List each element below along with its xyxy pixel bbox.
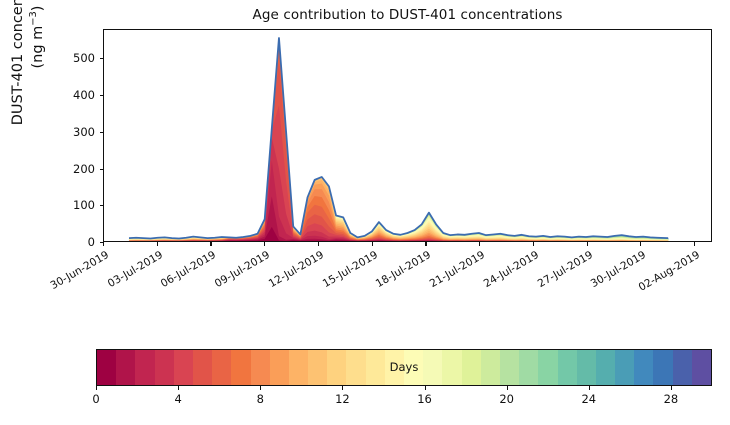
x-tick-mark xyxy=(479,242,480,246)
colorbar-segment xyxy=(442,350,461,385)
colorbar-segment xyxy=(135,350,154,385)
area-band xyxy=(129,38,668,241)
y-axis-label-exponent: −3 xyxy=(28,11,39,26)
colorbar-segment xyxy=(385,350,404,385)
colorbar-segment xyxy=(653,350,672,385)
colorbar-tick-mark xyxy=(178,386,179,390)
y-axis-label: DUST-401 concentration (ng m−3) xyxy=(11,0,45,153)
colorbar-tick-label: 0 xyxy=(76,392,116,406)
y-tick-label: 500 xyxy=(53,51,95,65)
chart-title: Age contribution to DUST-401 concentrati… xyxy=(103,7,712,23)
colorbar-tick-mark xyxy=(342,386,343,390)
y-tick-mark xyxy=(100,95,104,96)
area-band xyxy=(129,38,668,241)
area-band xyxy=(129,42,668,241)
y-tick-mark xyxy=(100,169,104,170)
y-tick-label: 200 xyxy=(53,162,95,176)
y-tick-label: 300 xyxy=(53,125,95,139)
colorbar-segment xyxy=(155,350,174,385)
colorbar-segment xyxy=(289,350,308,385)
colorbar-segment xyxy=(270,350,289,385)
area-band xyxy=(129,38,668,241)
colorbar[interactable] xyxy=(96,349,712,386)
area-band xyxy=(129,38,668,241)
area-band xyxy=(129,38,668,241)
colorbar-segment xyxy=(519,350,538,385)
colorbar-segment xyxy=(596,350,615,385)
x-tick-mark xyxy=(157,242,158,246)
area-band xyxy=(129,38,668,241)
area-band xyxy=(129,38,668,241)
colorbar-segment xyxy=(193,350,212,385)
area-band xyxy=(129,38,668,241)
area-band xyxy=(129,38,668,241)
colorbar-segment xyxy=(577,350,596,385)
area-band xyxy=(129,38,668,241)
x-tick-mark xyxy=(372,242,373,246)
area-band xyxy=(129,38,668,241)
colorbar-segment xyxy=(538,350,557,385)
colorbar-segment xyxy=(174,350,193,385)
colorbar-segment xyxy=(116,350,135,385)
y-axis-label-units-prefix: (ng m xyxy=(29,26,45,69)
area-band xyxy=(129,38,668,241)
area-band xyxy=(129,38,668,241)
x-tick-mark xyxy=(318,242,319,246)
x-tick-mark xyxy=(103,242,104,246)
colorbar-segment xyxy=(423,350,442,385)
colorbar-segment xyxy=(346,350,365,385)
area-band xyxy=(129,38,668,241)
colorbar-segment xyxy=(251,350,270,385)
colorbar-tick-mark xyxy=(96,386,97,390)
colorbar-tick-label: 8 xyxy=(240,392,280,406)
x-tick-mark xyxy=(210,242,211,246)
colorbar-segment xyxy=(500,350,519,385)
x-tick-mark xyxy=(533,242,534,246)
area-band xyxy=(129,38,668,241)
colorbar-segment xyxy=(308,350,327,385)
area-band xyxy=(129,161,668,241)
area-band xyxy=(129,38,668,241)
total-concentration-line xyxy=(129,38,668,238)
y-axis-label-line2: (ng m−3) xyxy=(28,6,47,69)
y-tick-mark xyxy=(100,205,104,206)
colorbar-tick-label: 4 xyxy=(158,392,198,406)
area-band xyxy=(129,38,668,241)
colorbar-tick-mark xyxy=(671,386,672,390)
colorbar-tick-label: 28 xyxy=(651,392,691,406)
x-tick-mark xyxy=(587,242,588,246)
area-band xyxy=(129,38,668,241)
colorbar-segment xyxy=(692,350,711,385)
area-band xyxy=(129,38,668,241)
colorbar-segment xyxy=(615,350,634,385)
colorbar-segment xyxy=(481,350,500,385)
colorbar-segment xyxy=(462,350,481,385)
colorbar-tick-label: 20 xyxy=(487,392,527,406)
area-band xyxy=(129,38,668,241)
colorbar-tick-mark xyxy=(507,386,508,390)
colorbar-segment xyxy=(97,350,116,385)
colorbar-tick-mark xyxy=(425,386,426,390)
x-tick-mark xyxy=(264,242,265,246)
colorbar-tick-mark xyxy=(589,386,590,390)
x-tick-mark xyxy=(425,242,426,246)
area-band xyxy=(129,38,668,241)
y-tick-label: 400 xyxy=(53,88,95,102)
colorbar-segment xyxy=(558,350,577,385)
colorbar-tick-mark xyxy=(260,386,261,390)
stacked-area-paths xyxy=(104,30,711,241)
area-band xyxy=(129,38,668,241)
colorbar-tick-label: 16 xyxy=(405,392,445,406)
x-tick-mark xyxy=(640,242,641,246)
colorbar-segment xyxy=(212,350,231,385)
colorbar-tick-label: 12 xyxy=(322,392,362,406)
colorbar-tick-label: 24 xyxy=(569,392,609,406)
y-tick-label: 100 xyxy=(53,198,95,212)
colorbar-segment xyxy=(366,350,385,385)
y-tick-mark xyxy=(100,58,104,59)
area-band xyxy=(129,138,668,241)
chart-figure: Age contribution to DUST-401 concentrati… xyxy=(0,0,730,425)
x-tick-mark xyxy=(694,242,695,246)
y-axis-label-units-suffix: ) xyxy=(29,6,45,12)
colorbar-segment xyxy=(231,350,250,385)
y-tick-label: 0 xyxy=(53,235,95,249)
area-band xyxy=(129,60,668,241)
colorbar-segment xyxy=(404,350,423,385)
y-axis-label-line1: DUST-401 concentration xyxy=(9,0,28,125)
colorbar-segment xyxy=(634,350,653,385)
plot-area xyxy=(103,29,712,242)
area-band xyxy=(129,38,668,241)
area-band xyxy=(129,38,668,241)
y-tick-mark xyxy=(100,132,104,133)
colorbar-segment xyxy=(327,350,346,385)
colorbar-segment xyxy=(673,350,692,385)
area-band xyxy=(129,38,668,241)
area-band xyxy=(129,105,668,241)
